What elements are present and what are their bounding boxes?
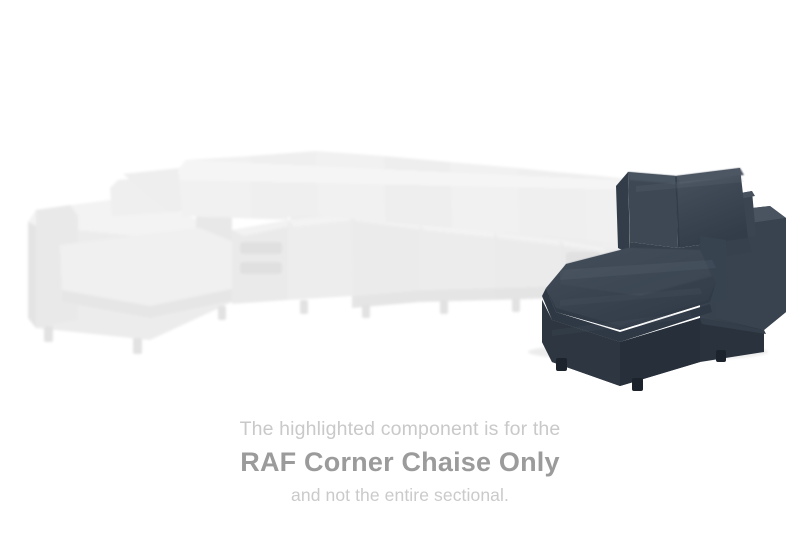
chaise-foot-rear-right xyxy=(716,350,726,362)
caption-line-2-product-name: RAF Corner Chaise Only xyxy=(0,445,800,480)
caption-block: The highlighted component is for the RAF… xyxy=(0,416,800,508)
chaise-inner-back xyxy=(616,172,630,254)
caption-line-1: The highlighted component is for the xyxy=(0,416,800,443)
chaise-foot-front-right xyxy=(632,378,643,391)
sectional-illustration xyxy=(0,0,800,400)
product-image-canvas: The highlighted component is for the RAF… xyxy=(0,0,800,533)
caption-line-3: and not the entire sectional. xyxy=(0,483,800,508)
chaise-foot-front-left xyxy=(556,358,567,371)
sectional-illustration-svg xyxy=(0,0,800,400)
